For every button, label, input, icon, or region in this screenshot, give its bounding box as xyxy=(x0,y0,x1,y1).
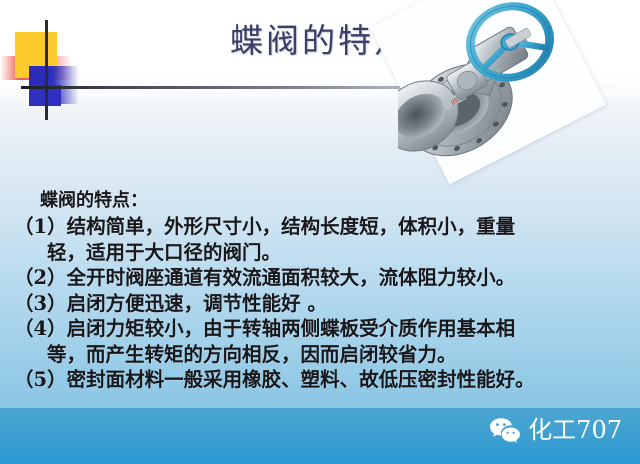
body-lead: 蝶阀的特点： xyxy=(14,188,626,214)
item-line1: 密封面材料一般采用橡胶、塑料、故低压密封性能好。 xyxy=(67,368,535,391)
butterfly-valve-photo: JIS xyxy=(398,0,578,162)
item-line2: 等，而产生转矩的方向相反，因而启闭较省力。 xyxy=(14,342,626,368)
item-marker: （4） xyxy=(14,317,67,340)
slide-canvas: 蝶阀的特点 xyxy=(0,0,640,464)
list-item: （4）启闭力矩较小，由于转轴两侧蝶板受介质作用基本相 等，而产生转矩的方向相反，… xyxy=(14,316,626,367)
list-item: （3）启闭方便迅速，调节性能好 。 xyxy=(14,291,626,317)
bottom-bar: 化工707 xyxy=(0,408,640,464)
item-marker: （1） xyxy=(14,215,67,238)
item-line1: 全开时阀座通道有效流通面积较大，流体阻力较小。 xyxy=(67,266,516,289)
wechat-icon xyxy=(489,417,521,444)
item-line1: 启闭力矩较小，由于转轴两侧蝶板受介质作用基本相 xyxy=(67,317,516,340)
watermark-text: 化工707 xyxy=(528,416,622,444)
deco-vertical-line-fade xyxy=(45,104,48,118)
item-marker: （3） xyxy=(14,292,67,315)
decorative-motif xyxy=(0,18,116,123)
list-item: （1）结构简单，外形尺寸小，结构长度短，体积小，重量 轻，适用于大口径的阀门。 xyxy=(14,214,626,265)
item-line2: 轻，适用于大口径的阀门。 xyxy=(14,240,626,266)
item-line1: 启闭方便迅速，调节性能好 。 xyxy=(67,292,327,315)
body-text-block: 蝶阀的特点： （1）结构简单，外形尺寸小，结构长度短，体积小，重量 轻，适用于大… xyxy=(14,188,626,393)
list-item: （5）密封面材料一般采用橡胶、塑料、故低压密封性能好。 xyxy=(14,367,626,393)
item-marker: （2） xyxy=(14,266,67,289)
item-line1: 结构简单，外形尺寸小，结构长度短，体积小，重量 xyxy=(67,215,516,238)
watermark: 化工707 xyxy=(489,416,622,444)
list-item: （2）全开时阀座通道有效流通面积较大，流体阻力较小。 xyxy=(14,265,626,291)
item-marker: （5） xyxy=(14,368,67,391)
